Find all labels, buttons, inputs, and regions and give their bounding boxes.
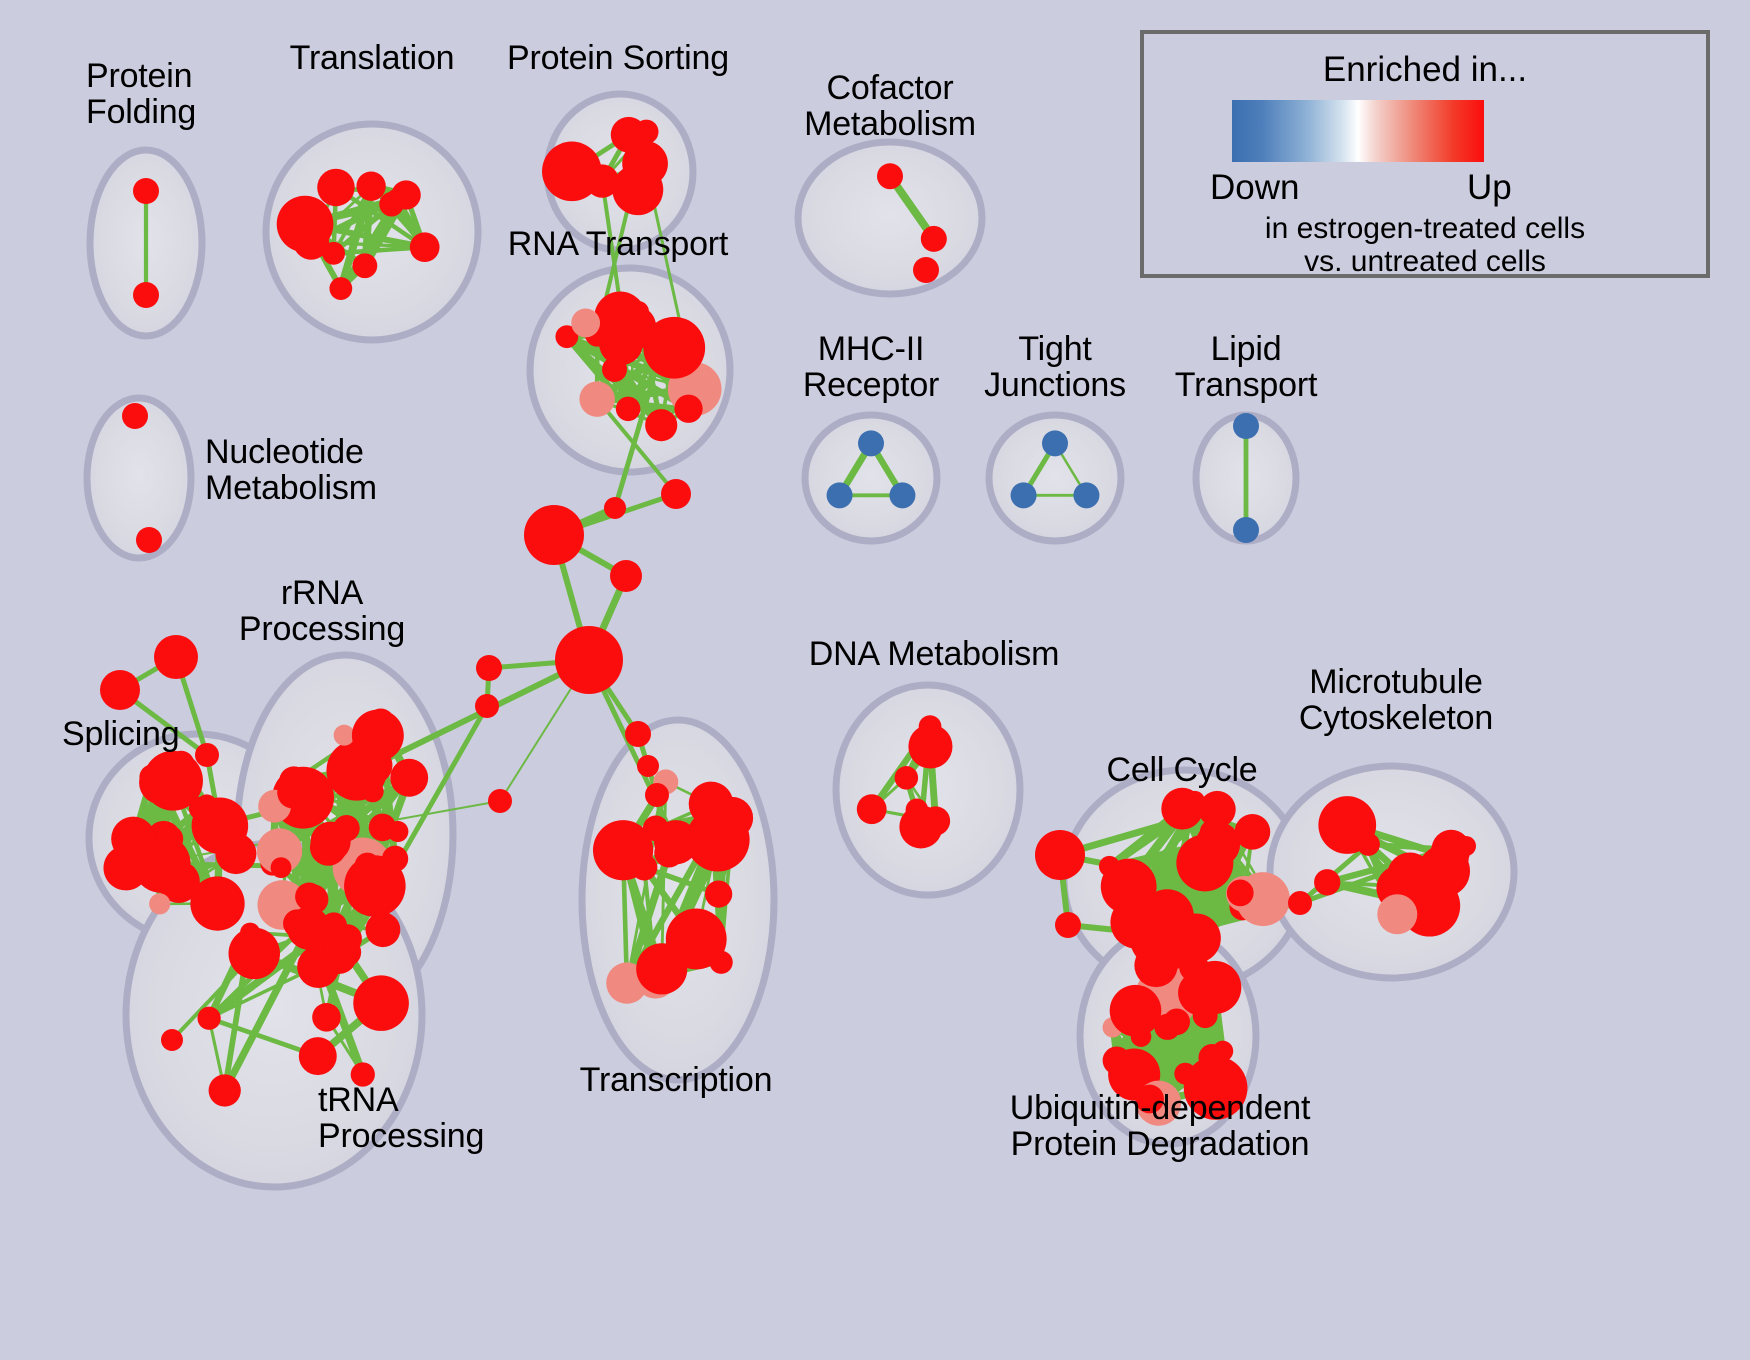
network-node[interactable] (133, 178, 159, 204)
network-node[interactable] (103, 846, 148, 891)
network-node[interactable] (157, 826, 184, 853)
network-node[interactable] (599, 321, 643, 365)
network-node[interactable] (674, 395, 702, 423)
network-node[interactable] (190, 876, 244, 930)
network-node[interactable] (311, 822, 351, 862)
network-node[interactable] (631, 854, 657, 880)
network-node[interactable] (154, 635, 198, 679)
cluster-label: Cell Cycle (1106, 752, 1257, 788)
network-node[interactable] (857, 794, 887, 824)
network-node[interactable] (229, 928, 281, 980)
network-node[interactable] (295, 883, 323, 911)
network-node[interactable] (627, 301, 649, 323)
cluster-label: Tight Junctions (984, 331, 1126, 404)
legend-down-label: Down (1210, 168, 1299, 208)
network-node[interactable] (579, 381, 614, 416)
network-node[interactable] (571, 309, 600, 338)
network-node[interactable] (1233, 413, 1259, 439)
network-node[interactable] (334, 725, 355, 746)
network-node[interactable] (329, 277, 352, 300)
network-node[interactable] (312, 1003, 341, 1032)
network-node[interactable] (542, 142, 602, 202)
network-node[interactable] (136, 527, 162, 553)
network-node[interactable] (476, 655, 502, 681)
cluster-label: Splicing (62, 716, 179, 752)
network-node[interactable] (1055, 912, 1081, 938)
network-node[interactable] (686, 808, 750, 872)
network-node[interactable] (827, 482, 853, 508)
network-node[interactable] (611, 117, 647, 153)
network-node[interactable] (277, 196, 334, 253)
network-node[interactable] (1212, 1041, 1233, 1062)
network-node[interactable] (161, 1029, 183, 1051)
legend-title: Enriched in... (1144, 50, 1706, 90)
cluster-label: Nucleotide Metabolism (205, 434, 377, 507)
network-node[interactable] (1108, 875, 1135, 902)
network-node[interactable] (1377, 894, 1417, 934)
network-node[interactable] (299, 1037, 337, 1075)
network-node[interactable] (643, 815, 669, 841)
network-node[interactable] (1110, 985, 1162, 1037)
legend-subtitle-line2: vs. untreated cells (1144, 245, 1706, 279)
network-node[interactable] (196, 794, 217, 815)
network-node[interactable] (149, 893, 170, 914)
network-node[interactable] (524, 505, 584, 565)
legend-up-label: Up (1467, 168, 1512, 208)
network-node[interactable] (666, 909, 727, 970)
network-node[interactable] (215, 833, 256, 874)
cluster-label: RNA Transport (508, 226, 728, 262)
enrichment-map-figure: Protein FoldingTranslationProtein Sortin… (0, 0, 1750, 1360)
network-node[interactable] (919, 715, 942, 738)
network-node[interactable] (1099, 856, 1120, 877)
network-node[interactable] (1129, 899, 1201, 971)
cluster-label: Lipid Transport (1175, 331, 1317, 404)
network-node[interactable] (277, 777, 309, 809)
network-node[interactable] (895, 766, 919, 790)
cluster-label: Protein Sorting (507, 40, 729, 76)
network-node[interactable] (1326, 805, 1370, 849)
cluster-hull (582, 720, 774, 1080)
network-node[interactable] (317, 169, 354, 206)
network-node[interactable] (645, 409, 677, 441)
cluster-label: Ubiquitin-dependent Protein Degradation (1010, 1090, 1311, 1163)
network-node[interactable] (352, 253, 377, 278)
network-node[interactable] (365, 912, 400, 947)
network-node[interactable] (705, 880, 732, 907)
network-node[interactable] (488, 789, 512, 813)
network-node[interactable] (352, 710, 404, 762)
network-node[interactable] (1163, 1009, 1190, 1036)
network-node[interactable] (913, 257, 939, 283)
network-node[interactable] (1288, 891, 1312, 915)
network-node[interactable] (1233, 517, 1259, 543)
network-node[interactable] (921, 226, 947, 252)
cluster-label: rRNA Processing (239, 575, 405, 648)
network-node[interactable] (625, 721, 651, 747)
cluster-label: Protein Folding (86, 58, 196, 131)
legend-subtitle-line1: in estrogen-treated cells (1144, 212, 1706, 246)
network-node[interactable] (122, 403, 148, 429)
network-node[interactable] (1197, 839, 1231, 873)
network-node[interactable] (1227, 880, 1254, 907)
cluster-label: Cofactor Metabolism (804, 70, 976, 143)
network-node[interactable] (195, 743, 219, 767)
network-node[interactable] (358, 871, 397, 910)
legend-panel: Enriched in... Down Up in estrogen-treat… (1140, 30, 1710, 278)
network-node[interactable] (616, 397, 641, 422)
network-node[interactable] (877, 163, 903, 189)
network-node[interactable] (1035, 830, 1085, 880)
network-node[interactable] (209, 1074, 241, 1106)
network-node[interactable] (858, 430, 884, 456)
network-node[interactable] (321, 938, 357, 974)
network-node[interactable] (899, 805, 942, 848)
network-node[interactable] (322, 242, 345, 265)
network-node[interactable] (197, 1007, 220, 1030)
legend-color-gradient-bar (1232, 100, 1484, 162)
network-node[interactable] (1011, 482, 1037, 508)
network-node[interactable] (661, 479, 691, 509)
network-node[interactable] (1103, 1046, 1131, 1074)
network-node[interactable] (555, 626, 623, 694)
network-node[interactable] (410, 232, 440, 262)
network-node[interactable] (1193, 1003, 1218, 1028)
network-node[interactable] (1314, 869, 1340, 895)
network-node[interactable] (100, 670, 140, 710)
network-node[interactable] (133, 282, 159, 308)
network-node[interactable] (604, 497, 626, 519)
network-node[interactable] (271, 857, 292, 878)
network-node[interactable] (353, 975, 409, 1031)
network-node[interactable] (1198, 796, 1226, 824)
network-node[interactable] (645, 783, 669, 807)
network-node[interactable] (1456, 836, 1476, 856)
cluster-label: Microtubule Cytoskeleton (1299, 664, 1493, 737)
cluster-label: Translation (290, 40, 455, 76)
network-node[interactable] (386, 189, 407, 210)
network-node[interactable] (387, 821, 408, 842)
network-node[interactable] (610, 560, 642, 592)
network-node[interactable] (889, 482, 915, 508)
cluster-label: tRNA Processing (318, 1082, 484, 1155)
network-node[interactable] (1042, 430, 1068, 456)
network-node[interactable] (637, 755, 659, 777)
network-node[interactable] (362, 780, 384, 802)
cluster-label: MHC-II Receptor (803, 331, 939, 404)
cluster-label: Transcription (580, 1062, 773, 1098)
network-node[interactable] (390, 759, 428, 797)
network-node[interactable] (1235, 814, 1271, 850)
network-node[interactable] (287, 907, 330, 950)
network-node[interactable] (139, 761, 183, 805)
network-node[interactable] (475, 694, 499, 718)
network-node[interactable] (356, 172, 385, 201)
network-node[interactable] (1073, 482, 1099, 508)
cluster-label: DNA Metabolism (809, 636, 1059, 672)
